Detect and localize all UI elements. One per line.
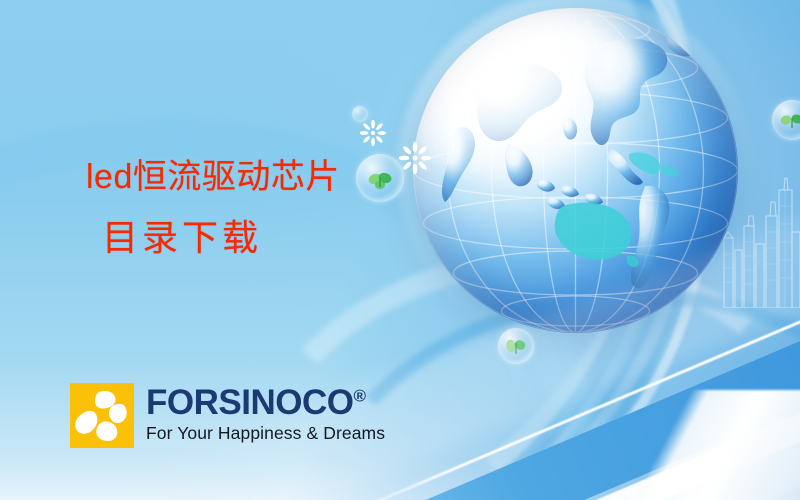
green-sprout-icon-3 (772, 100, 800, 140)
logo-wordmark: FORSINOCO® (146, 385, 385, 420)
forsinoco-pinwheel-mark (70, 383, 134, 448)
headline-line-2: 目录下载 (102, 220, 340, 256)
logo-text-block: FORSINOCO® For Your Happiness & Dreams (146, 383, 385, 443)
pinwheel-petals-icon (70, 383, 134, 448)
small-bubble-4 (352, 106, 368, 122)
bubble-with-sprout-2 (498, 328, 534, 364)
globe-sphere (413, 8, 738, 333)
bubble-with-sprout-1 (356, 154, 404, 202)
green-sprout-icon-1 (356, 154, 404, 202)
registered-trademark-symbol: ® (353, 386, 366, 405)
logo-wordmark-text: FORSINOCO (146, 383, 353, 422)
globe-rim-shading (413, 8, 738, 333)
banner-image: led恒流驱动芯片 目录下载 FORSINOCO® (0, 0, 800, 500)
green-sprout-icon-2 (498, 328, 534, 364)
headline-text: led恒流驱动芯片 目录下载 (86, 160, 340, 256)
earth-globe (413, 8, 738, 333)
headline-line-1: led恒流驱动芯片 (86, 160, 340, 194)
bubble-with-sprout-3 (772, 100, 800, 140)
logo-tagline: For Your Happiness & Dreams (146, 425, 385, 443)
company-logo: FORSINOCO® For Your Happiness & Dreams (70, 383, 385, 448)
